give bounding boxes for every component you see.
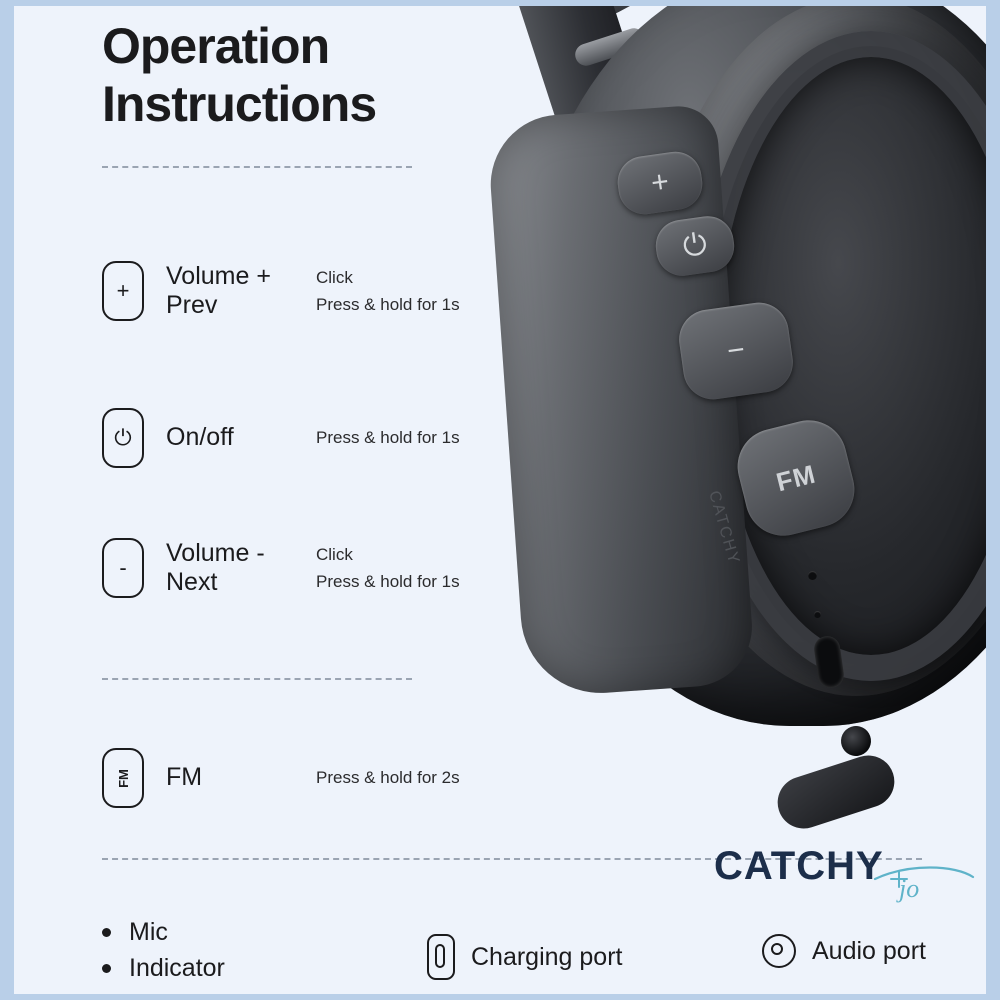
audio-jack-icon (762, 934, 796, 968)
instruction-card: CATCHY + ⏻ − FM Operation Instructions + (14, 6, 986, 994)
control-row-volume-up: + Volume + Prev Click Press & hold for 1… (102, 261, 460, 321)
control-label-line1: Volume - (166, 539, 316, 569)
legend-item-audio-port: Audio port (762, 934, 926, 968)
fm-key-glyph: FM (116, 769, 131, 788)
control-action-power: Press & hold for 1s (316, 424, 460, 451)
earcup-hinge (771, 749, 901, 836)
control-action-line1: Press & hold for 1s (316, 424, 460, 451)
control-label-volume-down: Volume - Next (166, 539, 316, 598)
plus-icon: + (649, 165, 671, 201)
legend-item-mic: Mic (102, 918, 168, 947)
control-row-power: ⏻ On/off Press & hold for 1s (102, 408, 460, 468)
minus-key-icon: - (102, 538, 144, 598)
page-title: Operation Instructions (102, 18, 376, 133)
control-label-line2: Prev (166, 291, 316, 321)
indicator-led-icon (814, 611, 821, 618)
audio-jack-port (839, 724, 873, 758)
control-action-volume-up: Click Press & hold for 1s (316, 264, 460, 318)
brand-suffix: jo (899, 874, 919, 904)
control-action-volume-down: Click Press & hold for 1s (316, 541, 460, 595)
bullet-icon (102, 928, 111, 937)
control-action-line1: Press & hold for 2s (316, 764, 460, 791)
fm-key-icon: FM (102, 748, 144, 808)
control-label-line1: On/off (166, 423, 316, 453)
control-row-volume-down: - Volume - Next Click Press & hold for 1… (102, 538, 460, 598)
control-label-fm: FM (166, 763, 316, 793)
legend: Mic Indicator Charging port Audio port (102, 906, 932, 986)
control-label-line2: Next (166, 568, 316, 598)
power-key-icon: ⏻ (102, 408, 144, 468)
control-action-line1: Click (316, 264, 460, 291)
control-label-line1: Volume + (166, 262, 316, 292)
bullet-icon (102, 964, 111, 973)
control-action-line2: Press & hold for 1s (316, 291, 460, 318)
legend-label-audio-port: Audio port (812, 937, 926, 966)
legend-item-charging-port: Charging port (427, 934, 622, 980)
legend-label-indicator: Indicator (129, 954, 225, 983)
control-action-fm: Press & hold for 2s (316, 764, 460, 791)
control-label-volume-up: Volume + Prev (166, 262, 316, 321)
legend-item-indicator: Indicator (102, 954, 225, 983)
legend-label-mic: Mic (129, 918, 168, 947)
control-row-fm: FM FM Press & hold for 2s (102, 748, 460, 808)
control-action-line2: Press & hold for 1s (316, 568, 460, 595)
usb-port-icon (427, 934, 455, 980)
plus-key-icon: + (102, 261, 144, 321)
legend-label-charging-port: Charging port (471, 943, 622, 972)
divider-middle (102, 678, 412, 680)
control-action-line1: Click (316, 541, 460, 568)
mic-hole-icon (808, 571, 817, 580)
minus-icon: − (725, 333, 747, 369)
control-label-power: On/off (166, 423, 316, 453)
page-title-line1: Operation (102, 18, 376, 76)
plus-key-glyph: + (117, 278, 130, 304)
product-volume-down-button[interactable]: − (675, 299, 796, 403)
minus-key-glyph: - (119, 555, 126, 581)
page-title-line2: Instructions (102, 76, 376, 134)
power-key-glyph: ⏻ (114, 425, 131, 451)
brand-name: CATCHY (714, 844, 884, 889)
fm-label: FM (773, 458, 819, 498)
product-side-logo: CATCHY (704, 489, 742, 568)
control-label-line1: FM (166, 763, 316, 793)
divider-top (102, 166, 412, 168)
power-icon: ⏻ (681, 228, 709, 265)
